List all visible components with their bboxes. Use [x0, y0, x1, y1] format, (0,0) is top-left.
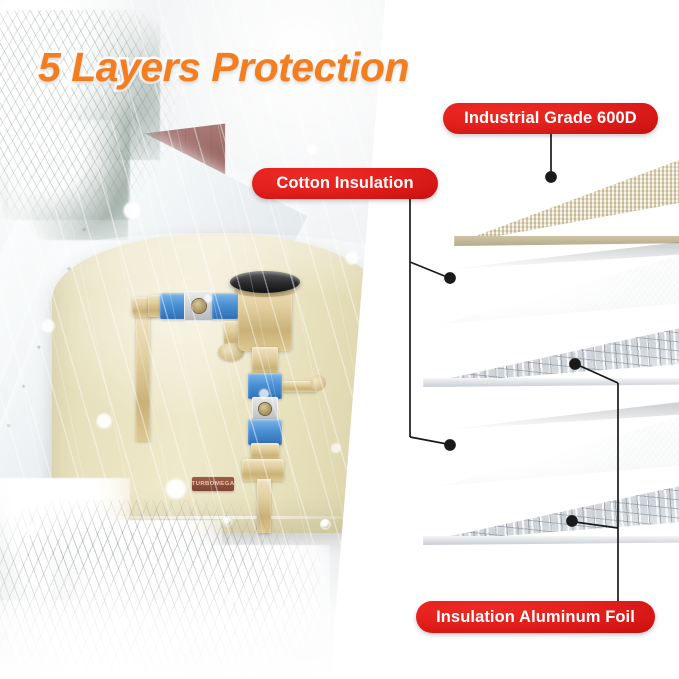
callout-cotton-insulation: Cotton Insulation [252, 168, 438, 199]
layer-2-cotton-insulation [386, 246, 679, 324]
layer-3-insulation-aluminum-foil [386, 322, 679, 384]
page-title: 5 Layers Protection [38, 44, 409, 91]
layer-1-edge [386, 236, 679, 246]
callout-industrial-grade-600d: Industrial Grade 600D [443, 103, 658, 134]
layer-3-edge [386, 378, 679, 387]
product-infographic: TURBOMEGA [0, 0, 679, 679]
layer-5-insulation-aluminum-foil [386, 480, 679, 542]
product-photo-scene: TURBOMEGA [0, 0, 400, 679]
callout-label: Industrial Grade 600D [464, 109, 637, 128]
layer-5-edge [386, 536, 679, 545]
layer-4-shadow [386, 400, 679, 430]
falling-snowflakes [0, 0, 400, 679]
callout-label: Insulation Aluminum Foil [436, 608, 635, 627]
callout-label: Cotton Insulation [276, 174, 413, 193]
callout-insulation-aluminum-foil: Insulation Aluminum Foil [416, 601, 655, 633]
layer-1-industrial-grade-600d [386, 152, 679, 244]
exploded-layer-stack [400, 0, 679, 679]
